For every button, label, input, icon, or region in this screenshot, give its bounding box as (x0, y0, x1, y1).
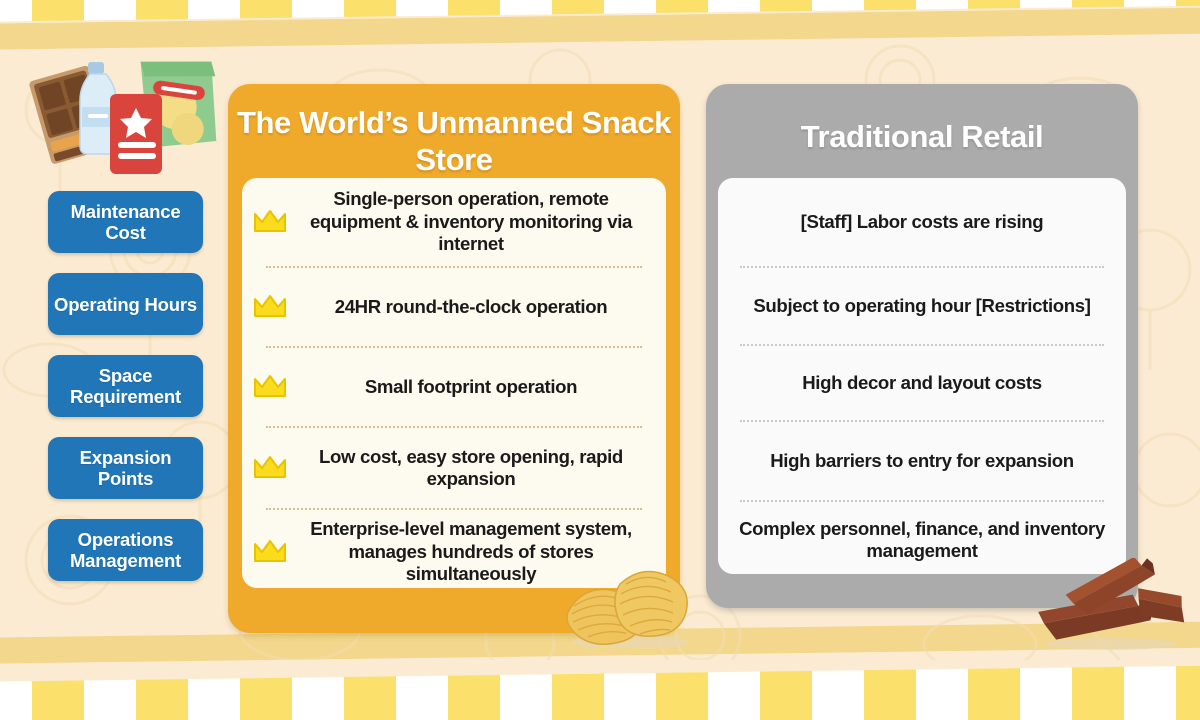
right-row-text: High barriers to entry for expansion (718, 450, 1126, 473)
left-row-text: 24HR round-the-clock operation (298, 296, 666, 319)
right-panel-title: Traditional Retail (706, 118, 1138, 155)
category-sidebar: Maintenance Cost Operating Hours Space R… (48, 191, 203, 601)
right-row-2: Subject to operating hour [Restrictions] (718, 268, 1126, 344)
sidebar-item-label: Operations Management (52, 529, 199, 571)
right-panel-card: [Staff] Labor costs are rising Subject t… (718, 178, 1126, 574)
right-row-text: [Staff] Labor costs are rising (718, 211, 1126, 234)
sidebar-item-label: Maintenance Cost (52, 201, 199, 243)
potato-chips-photo (560, 560, 705, 648)
left-panel-card: Single-person operation, remote equipmen… (242, 178, 666, 588)
infographic-canvas: Maintenance Cost Operating Hours Space R… (0, 0, 1200, 720)
right-row-text: High decor and layout costs (718, 372, 1126, 395)
right-row-3: High decor and layout costs (718, 346, 1126, 420)
left-row-1: Single-person operation, remote equipmen… (242, 178, 666, 266)
right-row-4: High barriers to entry for expansion (718, 422, 1126, 500)
left-row-text: Small footprint operation (298, 376, 666, 399)
crown-icon (242, 539, 298, 565)
right-row-text: Complex personnel, finance, and inventor… (718, 518, 1126, 563)
sidebar-item-label: Space Requirement (52, 365, 199, 407)
sidebar-item-operations-management[interactable]: Operations Management (48, 519, 203, 581)
left-row-text: Single-person operation, remote equipmen… (298, 188, 666, 256)
sidebar-item-label: Operating Hours (54, 294, 197, 315)
sidebar-item-operating-hours[interactable]: Operating Hours (48, 273, 203, 335)
sidebar-item-label: Expansion Points (52, 447, 199, 489)
right-row-text: Subject to operating hour [Restrictions] (718, 295, 1126, 318)
left-row-text: Low cost, easy store opening, rapid expa… (298, 446, 666, 491)
unmanned-store-panel: The World’s Unmanned Snack Store Single-… (228, 84, 680, 633)
sidebar-item-expansion-points[interactable]: Expansion Points (48, 437, 203, 499)
snack-assortment-illustration (22, 32, 237, 187)
left-panel-title: The World’s Unmanned Snack Store (228, 104, 680, 178)
left-row-2: 24HR round-the-clock operation (242, 268, 666, 346)
crown-icon (242, 455, 298, 481)
right-row-1: [Staff] Labor costs are rising (718, 178, 1126, 266)
left-row-3: Small footprint operation (242, 348, 666, 426)
sidebar-item-maintenance-cost[interactable]: Maintenance Cost (48, 191, 203, 253)
crown-icon (242, 374, 298, 400)
left-row-4: Low cost, easy store opening, rapid expa… (242, 428, 666, 508)
chocolate-bars-photo (1030, 558, 1190, 650)
sidebar-item-space-requirement[interactable]: Space Requirement (48, 355, 203, 417)
crown-icon (242, 209, 298, 235)
traditional-retail-panel: Traditional Retail [Staff] Labor costs a… (706, 84, 1138, 608)
crown-icon (242, 294, 298, 320)
